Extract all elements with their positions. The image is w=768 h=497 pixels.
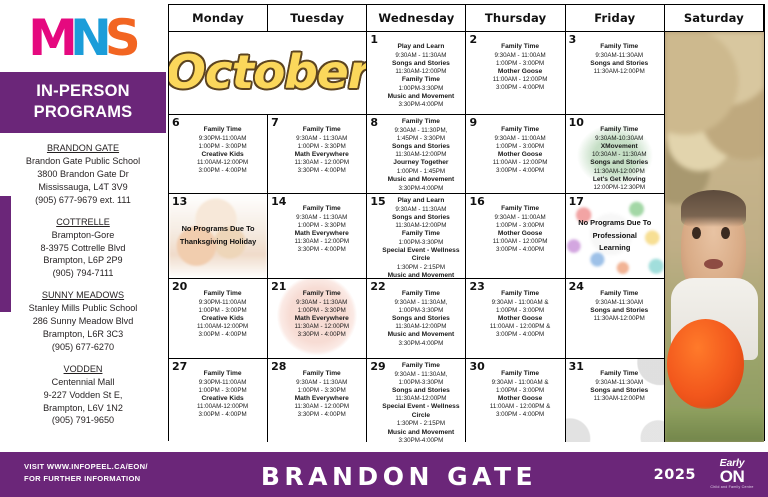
event-time: 10:30AM - 11:30AM bbox=[578, 151, 661, 159]
event-name: Songs and Stories bbox=[578, 307, 661, 316]
day-cell-29[interactable]: 29Family Time9:30AM - 11:30AM,1:00PM-3:3… bbox=[367, 359, 466, 442]
earlyon-on-text: ON bbox=[704, 468, 760, 485]
event-time: 11:30AM-12:00PM bbox=[379, 68, 462, 76]
day-cell-31[interactable]: 31Family Time9:30AM-11:30AMSongs and Sto… bbox=[566, 359, 665, 442]
event-time: 3:00PM - 4:00PM bbox=[181, 167, 264, 175]
event-time: 3:30PM-4:00PM bbox=[379, 437, 462, 442]
event-time: 9:30AM - 11:30AM bbox=[379, 52, 462, 60]
event-name: Family Time bbox=[379, 290, 462, 299]
event-name: Family Time bbox=[578, 290, 661, 299]
event-time: 3:00PM - 4:00PM bbox=[181, 411, 264, 419]
event-name: Journey Together bbox=[379, 159, 462, 168]
event-time: 3:30PM - 4:00PM bbox=[280, 331, 363, 339]
event-time: 9:30AM - 11:30AM bbox=[280, 299, 363, 307]
logo-letter-s: S bbox=[105, 9, 138, 67]
event-time: 9:30PM-11:00AM bbox=[181, 299, 264, 307]
location-line: 9-227 Vodden St E, bbox=[4, 389, 162, 402]
event-time: 11:30AM - 12:00PM bbox=[280, 323, 363, 331]
event-time: 11:30AM-12:00PM bbox=[379, 222, 462, 230]
event-time: 9:30AM - 11:30PM, bbox=[379, 127, 462, 135]
location-phone: (905) 677-6270 bbox=[4, 341, 162, 354]
closure-line: No Programs Due To bbox=[182, 223, 255, 236]
banner-line-1: IN-PERSON bbox=[4, 81, 162, 102]
calendar-grid: MondayTuesdayWednesdayThursdayFridaySatu… bbox=[168, 4, 765, 441]
event-time: 1:00PM-3:30PM bbox=[379, 85, 462, 93]
event-name: Songs and Stories bbox=[379, 60, 462, 69]
location-name: BRANDON GATE bbox=[4, 142, 162, 155]
event-time: 3:00PM - 4:00PM bbox=[478, 246, 561, 254]
event-time: 9:30AM - 11:00AM & bbox=[478, 379, 561, 387]
event-list: Family Time9:30PM-11:00AM1:00PM - 3:00PM… bbox=[171, 360, 265, 419]
event-name: Songs and Stories bbox=[379, 315, 462, 324]
event-list: Family Time9:30AM - 11:00AM &1:00PM - 3:… bbox=[468, 280, 562, 339]
closure-notice: No Programs Due ToProfessionalLearning bbox=[568, 195, 662, 277]
weekday-header-tuesday: Tuesday bbox=[268, 5, 367, 32]
event-time: 1:00PM - 3:00PM bbox=[181, 307, 264, 315]
location-line: Centennial Mall bbox=[4, 376, 162, 389]
event-name: Mother Goose bbox=[478, 68, 561, 77]
location-phone: (905) 794-7111 bbox=[4, 267, 162, 280]
event-list: Family Time9:30PM-11:00AM1:00PM - 3:00PM… bbox=[171, 116, 265, 175]
event-name: Math Everywhere bbox=[280, 151, 363, 160]
event-name: Family Time bbox=[578, 370, 661, 379]
day-cell-10[interactable]: 10Family Time9:30AM-10:30AMXMovement10:3… bbox=[566, 115, 665, 194]
event-name: Family Time bbox=[578, 126, 661, 135]
in-person-programs-banner: IN-PERSON PROGRAMS bbox=[0, 72, 166, 133]
event-list: Family Time9:30AM - 11:00AM &1:00PM - 3:… bbox=[468, 360, 562, 419]
event-time: 9:30PM-11:00AM bbox=[181, 379, 264, 387]
event-name: Mother Goose bbox=[478, 151, 561, 160]
event-time: 1:00PM - 1:45PM bbox=[379, 168, 462, 176]
location-name: VODDEN bbox=[4, 363, 162, 376]
event-time: 11:30AM-12:00PM bbox=[379, 395, 462, 403]
event-name: Family Time bbox=[181, 290, 264, 299]
earlyon-subtitle: Child and Family Centre bbox=[704, 486, 760, 490]
event-name: Songs and Stories bbox=[379, 387, 462, 396]
closure-line: Learning bbox=[599, 242, 630, 255]
location-line: 3800 Brandon Gate Dr bbox=[4, 168, 162, 181]
event-list: Family Time9:30AM - 11:30AM1:00PM - 3:30… bbox=[270, 195, 364, 254]
weekday-header-friday: Friday bbox=[566, 5, 665, 32]
event-name: Family Time bbox=[379, 362, 462, 371]
event-name: Family Time bbox=[478, 43, 561, 52]
event-time: 9:30AM-11:30AM bbox=[578, 299, 661, 307]
event-name: Music and Movement bbox=[379, 429, 462, 438]
event-time: 1:00PM - 3:00PM bbox=[478, 143, 561, 151]
location-name: COTTRELLE bbox=[4, 216, 162, 229]
location-line: Brandon Gate Public School bbox=[4, 155, 162, 168]
day-cell-7[interactable]: 7Family Time9:30AM - 11:30AM1:00PM - 3:3… bbox=[268, 115, 367, 194]
event-name: Family Time bbox=[478, 290, 561, 299]
event-name: Math Everywhere bbox=[280, 230, 363, 239]
event-time: 3:00PM - 4:00PM bbox=[181, 331, 264, 339]
day-cell-9[interactable]: 9Family Time9:30AM - 11:00AM1:00PM - 3:0… bbox=[466, 115, 565, 194]
event-time: 11:00AM - 12:00PM bbox=[478, 76, 561, 84]
event-time: 11:30AM - 12:00PM bbox=[280, 238, 363, 246]
event-name: Family Time bbox=[478, 370, 561, 379]
location-sunny-meadows: SUNNY MEADOWS Stanley Mills Public Schoo… bbox=[4, 289, 162, 354]
day-cell-27[interactable]: 27Family Time9:30PM-11:00AM1:00PM - 3:00… bbox=[169, 359, 268, 442]
day-cell-14[interactable]: 14Family Time9:30AM - 11:30AM1:00PM - 3:… bbox=[268, 194, 367, 279]
logo-letter-m: M bbox=[28, 9, 75, 67]
location-line: Mississauga, L4T 3V9 bbox=[4, 181, 162, 194]
day-cell-22[interactable]: 22Family Time9:30AM - 11:30AM,1:00PM-3:3… bbox=[367, 279, 466, 359]
earlyon-logo: Early ON Child and Family Centre bbox=[704, 458, 760, 492]
event-time: 1:00PM - 3:30PM bbox=[280, 143, 363, 151]
locations-list: BRANDON GATE Brandon Gate Public School … bbox=[0, 133, 166, 427]
event-name: Family Time bbox=[478, 205, 561, 214]
location-name: SUNNY MEADOWS bbox=[4, 289, 162, 302]
location-line: Brampton, L6R 3C3 bbox=[4, 328, 162, 341]
event-list: Family Time9:30AM-11:30AMSongs and Stori… bbox=[568, 360, 662, 403]
calendar-poster: MNS IN-PERSON PROGRAMS BRANDON GATE Bran… bbox=[0, 0, 768, 497]
event-time: 9:30AM - 11:00AM bbox=[478, 52, 561, 60]
event-list: Family Time9:30PM-11:00AM1:00PM - 3:00PM… bbox=[171, 280, 265, 339]
event-time: 1:00PM-3:30PM bbox=[379, 307, 462, 315]
event-name: Special Event - Wellness Circle bbox=[379, 247, 462, 264]
event-time: 9:30AM - 11:30AM bbox=[379, 206, 462, 214]
event-time: 11:30AM-12:00PM bbox=[578, 68, 661, 76]
event-time: 1:00PM - 3:00PM bbox=[478, 222, 561, 230]
day-cell-1[interactable]: 1Play and Learn9:30AM - 11:30AMSongs and… bbox=[367, 32, 466, 115]
event-time: 11:30AM - 12:00PM bbox=[280, 159, 363, 167]
location-line: 8-3975 Cottrelle Blvd bbox=[4, 242, 162, 255]
event-time: 9:30AM-10:30AM bbox=[578, 135, 661, 143]
event-name: Songs and Stories bbox=[578, 60, 661, 69]
event-name: Creative Kids bbox=[181, 151, 264, 160]
event-time: 1:00PM - 3:30PM bbox=[280, 387, 363, 395]
weekday-header-wednesday: Wednesday bbox=[367, 5, 466, 32]
event-time: 11:00AM - 12:00PM & bbox=[478, 323, 561, 331]
event-name: Family Time bbox=[379, 230, 462, 239]
weekday-header-saturday: Saturday bbox=[665, 5, 764, 32]
event-name: Songs and Stories bbox=[578, 159, 661, 168]
event-name: Music and Movement bbox=[379, 176, 462, 185]
purple-accent-bar bbox=[0, 196, 11, 312]
event-list: Family Time9:30AM - 11:00AM1:00PM - 3:00… bbox=[468, 195, 562, 254]
event-name: Songs and Stories bbox=[578, 387, 661, 396]
event-time: 1:30PM - 2:15PM bbox=[379, 264, 462, 272]
day-cell-20[interactable]: 20Family Time9:30PM-11:00AM1:00PM - 3:00… bbox=[169, 279, 268, 359]
event-name: Songs and Stories bbox=[379, 214, 462, 223]
event-time: 11:00AM - 12:00PM & bbox=[478, 403, 561, 411]
event-time: 11:30AM-12:00PM bbox=[578, 395, 661, 403]
event-time: 1:00PM - 3:00PM bbox=[181, 143, 264, 151]
event-time: 3:00PM - 4:00PM bbox=[478, 411, 561, 419]
event-name: Songs and Stories bbox=[379, 143, 462, 152]
location-vodden: VODDEN Centennial Mall 9-227 Vodden St E… bbox=[4, 363, 162, 428]
closure-line: Thanksgiving Holiday bbox=[180, 236, 256, 249]
day-cell-21[interactable]: 21Family Time9:30AM - 11:30AM1:00PM - 3:… bbox=[268, 279, 367, 359]
event-name: Music and Movement bbox=[379, 331, 462, 340]
event-time: 1:45PM - 3:30PM bbox=[379, 135, 462, 143]
pumpkin bbox=[667, 319, 744, 409]
closure-notice: No Programs Due ToThanksgiving Holiday bbox=[171, 195, 265, 277]
event-time: 9:30AM - 11:30AM bbox=[280, 214, 363, 222]
weekday-header-thursday: Thursday bbox=[466, 5, 565, 32]
location-line: Brampton, L6V 1N2 bbox=[4, 402, 162, 415]
event-time: 9:30AM - 11:30AM bbox=[280, 135, 363, 143]
event-time: 9:30AM - 11:00AM & bbox=[478, 299, 561, 307]
event-list: Family Time9:30AM - 11:30AM,1:00PM-3:30P… bbox=[369, 360, 463, 442]
event-list: Family Time9:30AM - 11:30AM1:00PM - 3:30… bbox=[270, 116, 364, 175]
day-cell-24[interactable]: 24Family Time9:30AM-11:30AMSongs and Sto… bbox=[566, 279, 665, 359]
event-name: Family Time bbox=[379, 76, 462, 85]
location-cottrelle: COTTRELLE Brampton-Gore 8-3975 Cottrelle… bbox=[4, 216, 162, 281]
location-phone: (905) 677-9679 ext. 111 bbox=[4, 194, 162, 207]
event-name: Play and Learn bbox=[379, 197, 462, 206]
day-cell-6[interactable]: 6Family Time9:30PM-11:00AM1:00PM - 3:00P… bbox=[169, 115, 268, 194]
location-line: Brampton-Gore bbox=[4, 229, 162, 242]
event-time: 1:00PM - 3:00PM bbox=[478, 307, 561, 315]
event-list: Family Time9:30AM - 11:30AM1:00PM - 3:30… bbox=[270, 280, 364, 339]
banner-line-2: PROGRAMS bbox=[4, 102, 162, 123]
location-phone: (905) 791-9650 bbox=[4, 414, 162, 427]
event-time: 11:30AM-12:00PM bbox=[578, 168, 661, 176]
day-cell-13[interactable]: 13No Programs Due ToThanksgiving Holiday bbox=[169, 194, 268, 279]
event-time: 1:30PM - 2:15PM bbox=[379, 420, 462, 428]
event-name: Math Everywhere bbox=[280, 395, 363, 404]
event-time: 11:30AM-12:00PM bbox=[379, 323, 462, 331]
event-name: Math Everywhere bbox=[280, 315, 363, 324]
event-time: 9:30AM - 11:00AM bbox=[478, 135, 561, 143]
logo-letter-n: N bbox=[70, 9, 109, 67]
event-time: 3:30PM - 4:00PM bbox=[280, 411, 363, 419]
event-time: 3:30PM-4:00PM bbox=[379, 101, 462, 109]
day-cell-17[interactable]: 17No Programs Due ToProfessionalLearning bbox=[566, 194, 665, 279]
day-cell-8[interactable]: 8Family Time9:30AM - 11:30PM,1:45PM - 3:… bbox=[367, 115, 466, 194]
event-time: 3:30PM - 4:00PM bbox=[280, 167, 363, 175]
event-time: 12:00PM-12:30PM bbox=[578, 184, 661, 192]
mns-logo: MNS bbox=[0, 0, 166, 72]
event-time: 11:30AM-12:00PM bbox=[578, 315, 661, 323]
location-line: 286 Sunny Meadow Blvd bbox=[4, 315, 162, 328]
event-name: Music and Movement bbox=[379, 272, 462, 279]
event-time: 1:00PM - 3:30PM bbox=[280, 307, 363, 315]
event-name: Music and Movement bbox=[379, 93, 462, 102]
grass bbox=[665, 409, 764, 442]
footer: VISIT WWW.INFOPEEL.CA/EON/ FOR FURTHER I… bbox=[0, 452, 768, 497]
closure-line: No Programs Due To bbox=[578, 217, 651, 230]
event-name: Family Time bbox=[280, 126, 363, 135]
event-name: Creative Kids bbox=[181, 315, 264, 324]
event-time: 11:00AM-12:00PM bbox=[181, 403, 264, 411]
event-name: Special Event - Wellness Circle bbox=[379, 403, 462, 420]
event-name: XMovement bbox=[578, 143, 661, 152]
event-list: Family Time9:30AM - 11:00AM1:00PM - 3:00… bbox=[468, 33, 562, 92]
day-cell-28[interactable]: 28Family Time9:30AM - 11:30AM1:00PM - 3:… bbox=[268, 359, 367, 442]
day-cell-3[interactable]: 3Family Time9:30AM-11:30AMSongs and Stor… bbox=[566, 32, 665, 115]
event-name: Family Time bbox=[379, 118, 462, 127]
event-time: 9:30AM-11:30AM bbox=[578, 52, 661, 60]
event-time: 9:30AM - 11:00AM bbox=[478, 214, 561, 222]
day-cell-16[interactable]: 16Family Time9:30AM - 11:00AM1:00PM - 3:… bbox=[466, 194, 565, 279]
event-list: Play and Learn9:30AM - 11:30AMSongs and … bbox=[369, 195, 463, 279]
event-name: Family Time bbox=[181, 126, 264, 135]
event-time: 1:00PM - 3:30PM bbox=[280, 222, 363, 230]
event-time: 9:30AM - 11:30AM, bbox=[379, 299, 462, 307]
event-time: 11:00AM-12:00PM bbox=[181, 323, 264, 331]
event-name: Family Time bbox=[578, 43, 661, 52]
event-time: 11:00AM-12:00PM bbox=[181, 159, 264, 167]
event-name: Family Time bbox=[181, 370, 264, 379]
day-cell-2[interactable]: 2Family Time9:30AM - 11:00AM1:00PM - 3:0… bbox=[466, 32, 565, 115]
location-line: Stanley Mills Public School bbox=[4, 302, 162, 315]
day-cell-23[interactable]: 23Family Time9:30AM - 11:00AM &1:00PM - … bbox=[466, 279, 565, 359]
month-title-text: October bbox=[169, 51, 367, 95]
event-time: 11:30AM - 12:00PM bbox=[280, 403, 363, 411]
event-time: 3:30PM-4:00PM bbox=[379, 185, 462, 193]
event-name: Family Time bbox=[478, 126, 561, 135]
event-name: Creative Kids bbox=[181, 395, 264, 404]
month-title-cell: October bbox=[169, 32, 367, 115]
event-list: Family Time9:30AM - 11:30AM1:00PM - 3:30… bbox=[270, 360, 364, 419]
event-list: Family Time9:30AM - 11:30AM,1:00PM-3:30P… bbox=[369, 280, 463, 348]
event-list: Family Time9:30AM-10:30AMXMovement10:30A… bbox=[568, 116, 662, 193]
event-name: Play and Learn bbox=[379, 43, 462, 52]
event-time: 11:00AM - 12:00PM bbox=[478, 159, 561, 167]
event-name: Mother Goose bbox=[478, 395, 561, 404]
sidebar: MNS IN-PERSON PROGRAMS BRANDON GATE Bran… bbox=[0, 0, 166, 443]
event-time: 3:30PM - 4:00PM bbox=[280, 246, 363, 254]
event-time: 1:00PM - 3:00PM bbox=[181, 387, 264, 395]
event-time: 1:00PM-3:30PM bbox=[379, 379, 462, 387]
closure-line: Professional bbox=[593, 230, 637, 243]
event-time: 3:00PM - 4:00PM bbox=[478, 331, 561, 339]
saturday-photo-cell bbox=[665, 32, 764, 442]
event-name: Mother Goose bbox=[478, 315, 561, 324]
event-time: 9:30AM-11:30AM bbox=[578, 379, 661, 387]
event-list: Family Time9:30AM-11:30AMSongs and Stori… bbox=[568, 33, 662, 76]
event-time: 3:00PM - 4:00PM bbox=[478, 167, 561, 175]
weekday-header-monday: Monday bbox=[169, 5, 268, 32]
location-brandon-gate: BRANDON GATE Brandon Gate Public School … bbox=[4, 142, 162, 207]
location-line: Brampton, L6P 2P9 bbox=[4, 254, 162, 267]
event-time: 9:30AM - 11:30AM, bbox=[379, 371, 462, 379]
event-list: Family Time9:30AM - 11:00AM1:00PM - 3:00… bbox=[468, 116, 562, 175]
day-cell-30[interactable]: 30Family Time9:30AM - 11:00AM &1:00PM - … bbox=[466, 359, 565, 442]
event-time: 3:30PM-4:00PM bbox=[379, 340, 462, 348]
event-time: 3:00PM - 4:00PM bbox=[478, 84, 561, 92]
event-name: Mother Goose bbox=[478, 230, 561, 239]
event-time: 9:30PM-11:00AM bbox=[181, 135, 264, 143]
event-time: 11:00AM - 12:00PM bbox=[478, 238, 561, 246]
event-name: Family Time bbox=[280, 370, 363, 379]
event-list: Family Time9:30AM-11:30AMSongs and Stori… bbox=[568, 280, 662, 323]
year-label: 2025 bbox=[654, 467, 696, 483]
event-time: 1:00PM - 3:00PM bbox=[478, 387, 561, 395]
event-time: 1:00PM-3:30PM bbox=[379, 239, 462, 247]
baby-eye-left bbox=[692, 227, 701, 239]
event-list: Family Time9:30AM - 11:30PM,1:45PM - 3:3… bbox=[369, 116, 463, 193]
day-cell-15[interactable]: 15Play and Learn9:30AM - 11:30AMSongs an… bbox=[367, 194, 466, 279]
event-time: 11:30AM-12:00PM bbox=[379, 151, 462, 159]
event-name: Family Time bbox=[280, 205, 363, 214]
baby-hair bbox=[681, 190, 746, 227]
event-name: Let's Get Moving bbox=[578, 176, 661, 185]
event-list: Play and Learn9:30AM - 11:30AMSongs and … bbox=[369, 33, 463, 110]
event-time: 9:30AM - 11:30AM bbox=[280, 379, 363, 387]
event-name: Family Time bbox=[280, 290, 363, 299]
event-time: 1:00PM - 3:00PM bbox=[478, 60, 561, 68]
